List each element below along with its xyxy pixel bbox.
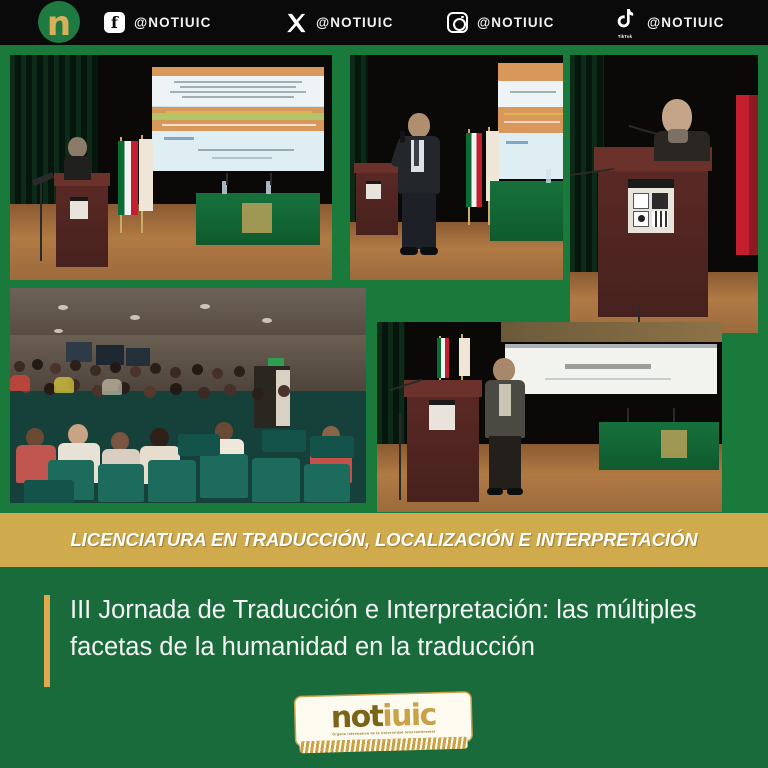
logo-text-part-a: not — [330, 699, 382, 735]
brand-letter: n — [47, 7, 71, 41]
speaker-standing-figure — [483, 358, 527, 498]
facebook-icon[interactable]: f — [104, 12, 125, 33]
program-banner-text: LICENCIATURA EN TRADUCCIÓN, LOCALIZACIÓN… — [70, 529, 697, 551]
podium — [598, 147, 708, 317]
title-section: III Jornada de Traducción e Interpretaci… — [0, 567, 768, 687]
logo-text-part-b: iuic — [382, 698, 436, 734]
event-title: III Jornada de Traducción e Interpretaci… — [70, 592, 750, 666]
tiktok-handle: @NOTIUIC — [647, 15, 724, 30]
photo-audience-auditorium — [10, 288, 366, 503]
photo-podium-crest — [570, 55, 758, 333]
instagram-icon[interactable] — [447, 12, 468, 33]
photo-collage — [0, 45, 768, 513]
x-twitter-handle: @NOTIUIC — [316, 15, 393, 30]
tiktok-icon[interactable]: TikTok — [612, 8, 638, 38]
title-accent-bar — [44, 595, 50, 691]
speaker-figure — [62, 137, 92, 179]
photo-speaker-expectativa — [377, 322, 722, 512]
photo-presenter-microphone — [350, 55, 563, 280]
tiktok-wordmark: TikTok — [612, 34, 638, 39]
university-crest-icon — [628, 179, 674, 233]
x-twitter-icon[interactable] — [285, 12, 307, 34]
social-link-x-twitter[interactable]: @NOTIUIC — [285, 0, 393, 45]
facebook-handle: @NOTIUIC — [134, 15, 211, 30]
footer-section: notiuic Órgano informativo de la Univers… — [0, 687, 768, 768]
social-media-bar: n f @NOTIUIC @NOTIUIC @NOTIUIC TikTok @N… — [0, 0, 768, 45]
reader-figure — [654, 99, 712, 159]
social-link-facebook[interactable]: f @NOTIUIC — [104, 0, 211, 45]
notiuic-circle-logo: n — [38, 1, 80, 43]
notiuic-wordmark-logo: notiuic Órgano informativo de la Univers… — [295, 693, 472, 756]
photo-speaker-podium-screen — [10, 55, 332, 280]
social-link-tiktok[interactable]: TikTok @NOTIUIC — [612, 0, 724, 45]
social-link-instagram[interactable]: @NOTIUIC — [447, 0, 554, 45]
instagram-handle: @NOTIUIC — [477, 15, 554, 30]
presenter-figure — [394, 113, 444, 263]
program-banner: LICENCIATURA EN TRADUCCIÓN, LOCALIZACIÓN… — [0, 513, 768, 567]
projection-screen — [505, 344, 717, 394]
